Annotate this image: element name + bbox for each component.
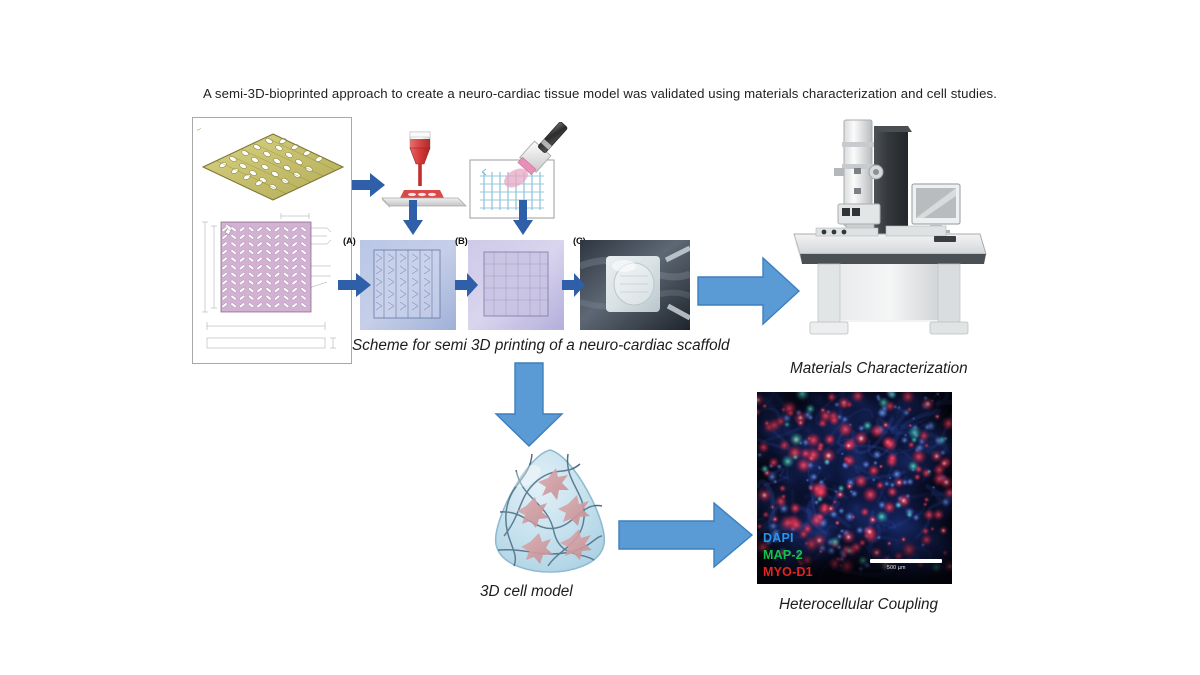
caption-heterocellular-coupling: Heterocellular Coupling	[779, 596, 938, 614]
headline-text: A semi-3D-bioprinted approach to create …	[203, 86, 1033, 101]
arrow-cad-to-step-a	[338, 272, 372, 298]
step-label-a: (A)	[343, 236, 356, 247]
caption-scheme: Scheme for semi 3D printing of a neuro-c…	[352, 337, 730, 355]
hydrogel-scaffold-tweezers-image	[580, 240, 690, 330]
dimensioned-scaffold-drawing	[197, 210, 349, 360]
scanning-electron-microscope	[788, 112, 996, 352]
arrow-scheme-to-cellmodel	[493, 362, 565, 448]
arrow-step-a-to-step-b	[455, 272, 479, 298]
scale-bar	[870, 559, 942, 563]
hydrogel-blob-with-cells	[470, 440, 630, 580]
arrow-step-b-to-step-c	[562, 272, 586, 298]
scale-bar-label: 500 µm	[887, 565, 906, 571]
caption-materials-characterization: Materials Characterization	[790, 360, 968, 378]
channel-label-map2: MAP-2	[763, 549, 803, 562]
coated-scaffold-image	[468, 240, 564, 330]
fluorescence-microscopy-image: DAPI MAP-2 MYO-D1 500 µm	[757, 392, 952, 584]
arrow-printer-to-step-a	[402, 200, 424, 236]
isometric-lattice-render	[197, 128, 349, 206]
channel-label-myod1: MYO-D1	[763, 566, 813, 579]
channel-label-dapi: DAPI	[763, 532, 794, 545]
arrow-cellmodel-to-fluor	[618, 500, 754, 570]
printed-lattice-scaffold-image	[360, 240, 456, 330]
scaffold-cad-panel	[192, 117, 352, 364]
arrow-scheme-to-microscope	[697, 255, 801, 327]
step-label-b: (B)	[455, 236, 468, 247]
arrow-coating-to-step-b	[512, 200, 534, 236]
arrow-cad-to-printer	[352, 172, 386, 198]
caption-3d-cell-model: 3D cell model	[480, 583, 573, 601]
